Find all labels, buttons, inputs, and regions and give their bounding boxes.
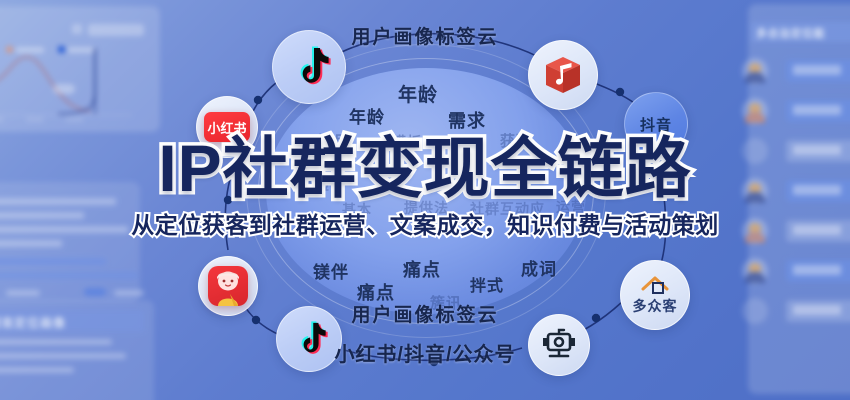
node-music-cube[interactable] xyxy=(528,40,598,110)
headline-block: IP社群变现全链路 从定位获客到社群运营、文案成交，知识付费与活动策划 xyxy=(0,132,850,239)
poster-canvas: 8 2030 2040 2050 精准定位画像 多合治定位能 xyxy=(0,0,850,400)
page-title: IP社群变现全链路 xyxy=(0,132,850,204)
caption-top: 用户画像标签云 xyxy=(0,22,850,49)
page-subtitle: 从定位获客到社群运营、文案成交，知识付费与活动策划 xyxy=(0,211,850,239)
house-arrow-icon xyxy=(640,275,670,295)
caption-channels: 小红书/抖音/公众号 xyxy=(0,338,850,367)
music-cube-icon xyxy=(540,52,586,98)
caption-bottom: 用户画像标签云 xyxy=(0,300,850,327)
tiktok-icon xyxy=(289,45,329,89)
